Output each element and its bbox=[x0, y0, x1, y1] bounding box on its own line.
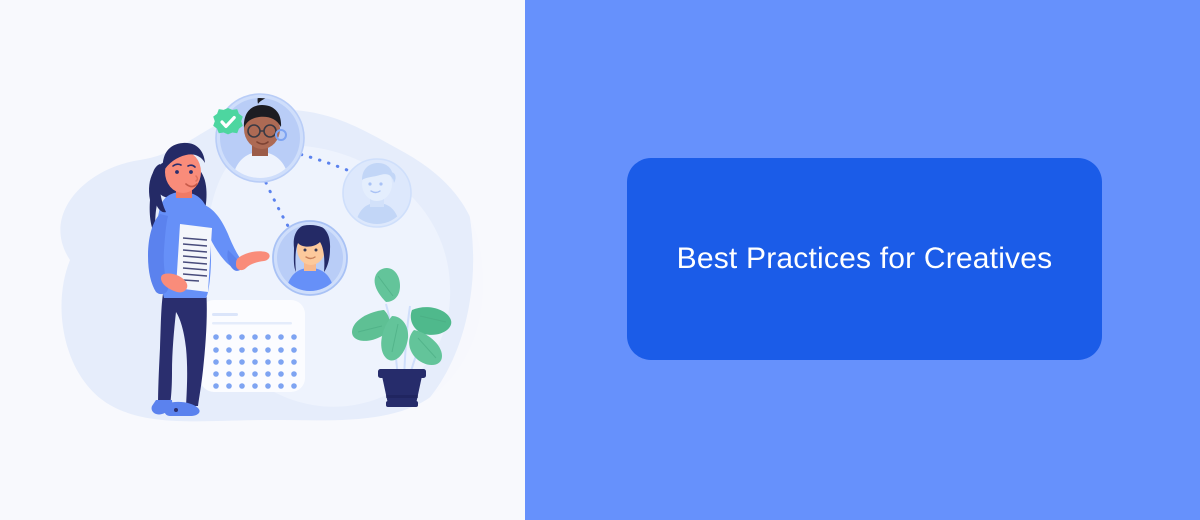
team-collaboration-illustration bbox=[0, 0, 525, 520]
pot bbox=[382, 376, 422, 404]
page-root: Best Practices for Creatives bbox=[0, 0, 1200, 520]
avatar-woman-bob bbox=[273, 221, 347, 295]
hero-panel: Best Practices for Creatives bbox=[525, 0, 1200, 520]
hero-title: Best Practices for Creatives bbox=[677, 241, 1053, 277]
calendar-card bbox=[200, 300, 305, 392]
background-bottom-fade bbox=[0, 424, 525, 520]
hero-title-card[interactable]: Best Practices for Creatives bbox=[627, 158, 1102, 360]
illustration-panel bbox=[0, 0, 525, 520]
